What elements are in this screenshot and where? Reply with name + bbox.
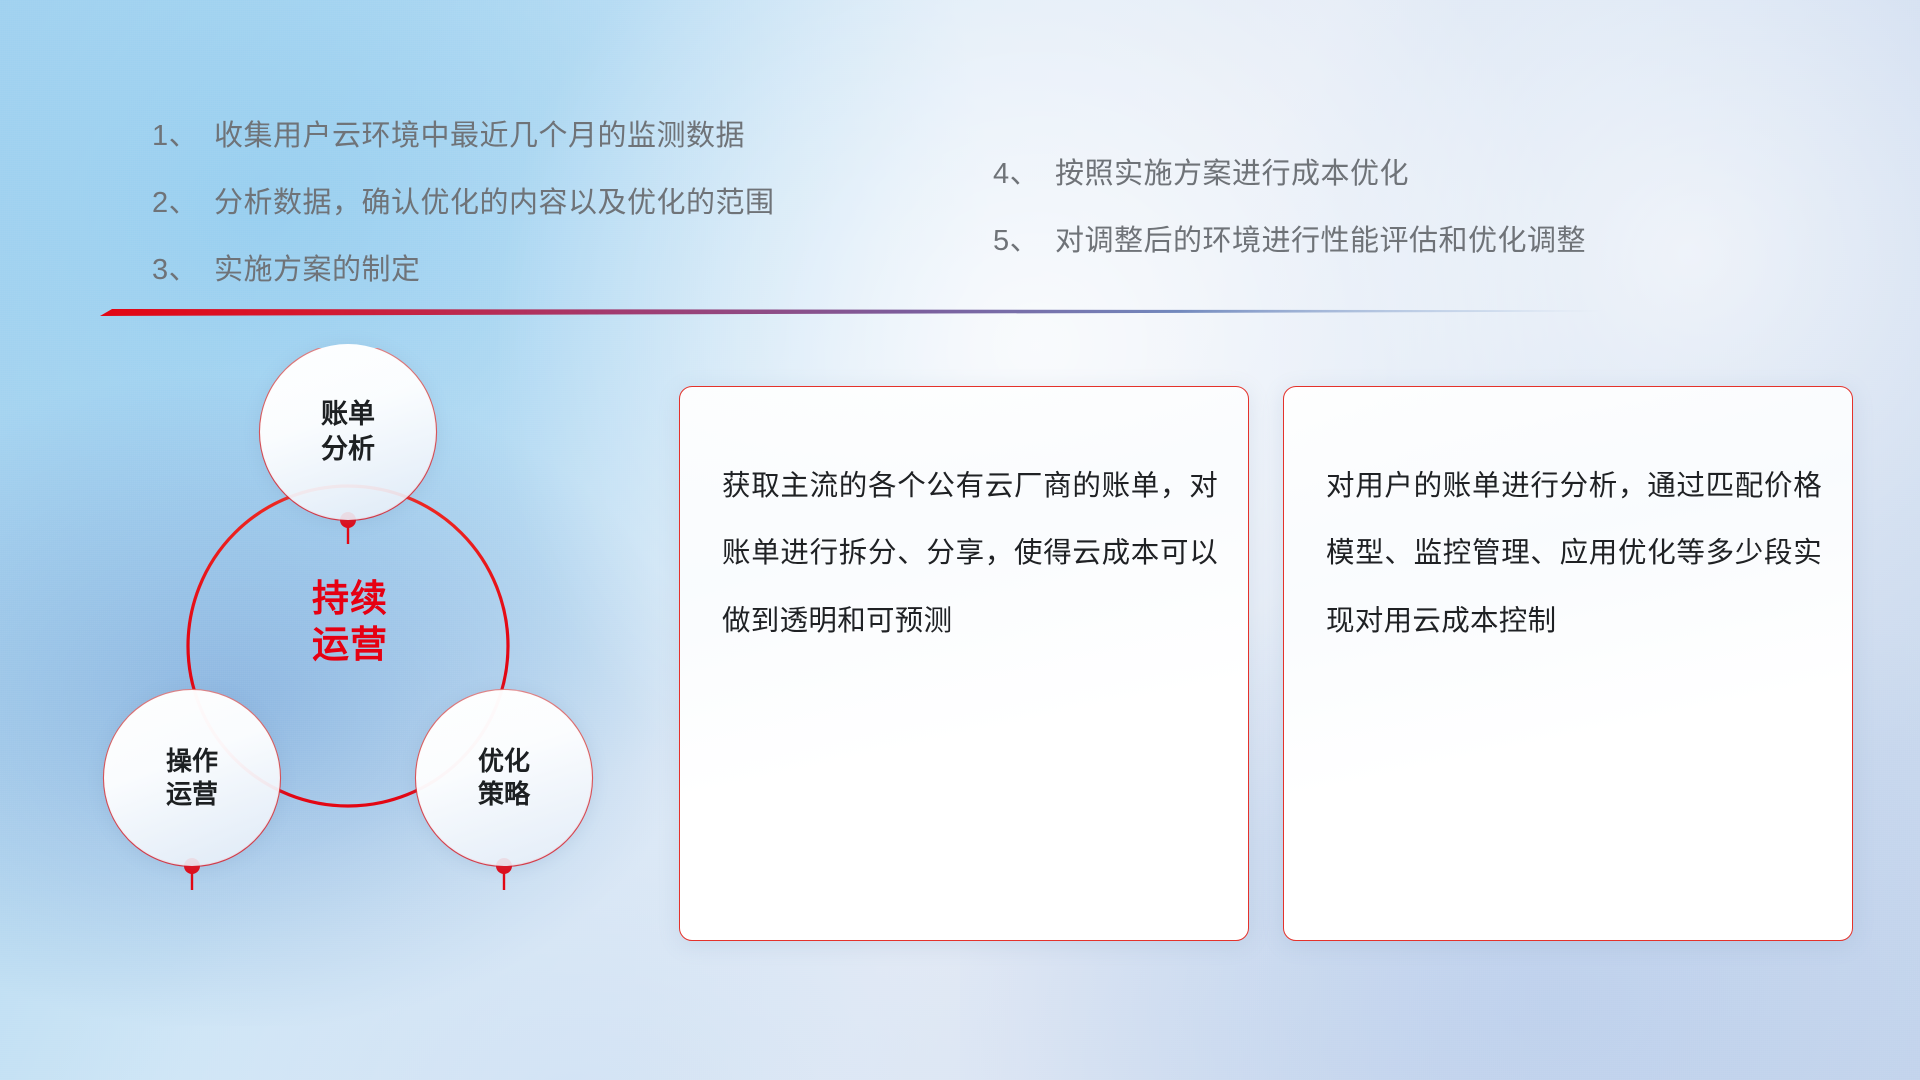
diagram-node-operation[interactable]: 操作 运营 [104, 690, 280, 866]
step-text: 收集用户云环境中最近几个月的监测数据 [214, 112, 745, 154]
diagram-center-label: 持续 运营 [266, 576, 434, 669]
step-number: 2、 [152, 179, 214, 221]
diagram-node-bill-analysis[interactable]: 账单 分析 [260, 344, 436, 520]
step-item-1: 1、 收集用户云环境中最近几个月的监测数据 [152, 112, 775, 154]
node-label-line2: 运营 [166, 778, 218, 811]
card-multi-cloud-billing-platform[interactable]: 获取主流的各个公有云厂商的账单，对账单进行拆分、分享，使得云成本可以做到透明和可… [679, 386, 1249, 941]
step-item-2: 2、 分析数据，确认优化的内容以及优化的范围 [152, 179, 775, 221]
node-label-line1: 账单 [321, 397, 375, 432]
steps-column-right: 4、 按照实施方案进行成本优化 5、 对调整后的环境进行性能评估和优化调整 [993, 150, 1586, 284]
step-number: 4、 [993, 150, 1055, 192]
step-item-5: 5、 对调整后的环境进行性能评估和优化调整 [993, 217, 1586, 259]
card-description: 对用户的账单进行分析，通过匹配价格模型、监控管理、应用优化等多少段实现对用云成本… [1326, 453, 1822, 655]
node-label-line1: 优化 [478, 745, 530, 778]
node-label-line2: 分析 [321, 432, 375, 467]
steps-list: 1、 收集用户云环境中最近几个月的监测数据 2、 分析数据，确认优化的内容以及优… [0, 0, 1920, 300]
step-number: 5、 [993, 217, 1055, 259]
step-text: 实施方案的制定 [214, 246, 421, 288]
node-label-line2: 策略 [478, 778, 530, 811]
center-label-line1: 持续 [266, 576, 434, 622]
step-text: 按照实施方案进行成本优化 [1055, 150, 1409, 192]
continuous-operation-diagram: 账单 分析 操作 运营 优化 策略 持续 运营 [96, 348, 676, 948]
step-item-3: 3、 实施方案的制定 [152, 246, 775, 288]
step-item-4: 4、 按照实施方案进行成本优化 [993, 150, 1586, 192]
section-divider [100, 305, 1600, 318]
steps-column-left: 1、 收集用户云环境中最近几个月的监测数据 2、 分析数据，确认优化的内容以及优… [152, 112, 775, 313]
card-cloud-cost-optimization[interactable]: 对用户的账单进行分析，通过匹配价格模型、监控管理、应用优化等多少段实现对用云成本… [1283, 386, 1853, 941]
step-number: 3、 [152, 246, 214, 288]
step-text: 分析数据，确认优化的内容以及优化的范围 [214, 179, 775, 221]
card-description: 获取主流的各个公有云厂商的账单，对账单进行拆分、分享，使得云成本可以做到透明和可… [722, 453, 1218, 655]
diagram-node-optimization-strategy[interactable]: 优化 策略 [416, 690, 592, 866]
step-number: 1、 [152, 112, 214, 154]
step-text: 对调整后的环境进行性能评估和优化调整 [1055, 217, 1586, 259]
center-label-line2: 运营 [266, 622, 434, 668]
node-label-line1: 操作 [166, 745, 218, 778]
